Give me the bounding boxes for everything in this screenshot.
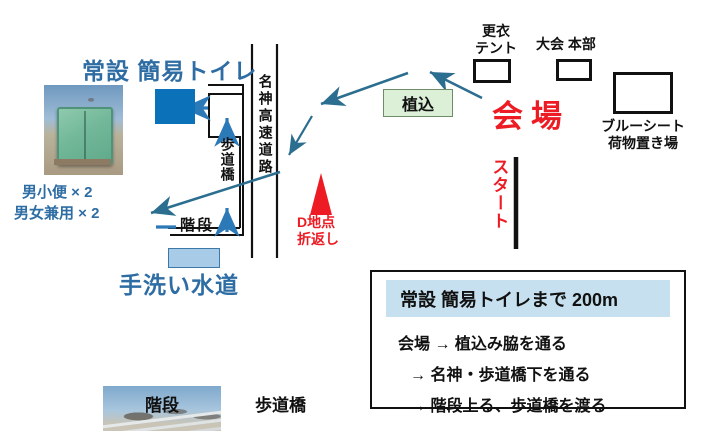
water-section-title: 手洗い水道	[119, 266, 239, 300]
blue-sheet-baggage-box	[613, 72, 673, 114]
stairs-route-label: 階段	[180, 218, 214, 235]
toilet-count-male-urinal: 男小便 × 2	[22, 181, 92, 202]
turnaround-label-line1: D地点	[297, 215, 335, 231]
portable-toilet-photo	[44, 85, 123, 175]
arrow-under-highway	[151, 172, 280, 213]
directions-step-3: → 階段上る、歩道橋を渡る	[410, 392, 684, 416]
highway-label: 名神高速道路	[257, 74, 273, 176]
water-station-block	[168, 248, 220, 268]
event-headquarters-label: 大会 本部	[536, 37, 596, 53]
footbridge-photo-caption: 歩道橋	[229, 396, 332, 415]
start-label: スタート	[489, 158, 508, 230]
event-headquarters-box	[556, 59, 592, 81]
turnaround-triangle	[310, 173, 332, 215]
toilet-location-block	[155, 89, 195, 124]
toilet-count-unisex: 男女兼用 × 2	[14, 202, 99, 223]
blue-sheet-baggage-label-line1: ブルーシート	[598, 119, 688, 135]
directions-step-2: → 名神・歩道橋下を通る	[410, 361, 684, 385]
venue-label: 会場	[492, 99, 570, 134]
planting-box: 植込	[383, 89, 453, 117]
directions-panel: 常設 簡易トイレまで 200m 会場 → 植込み脇を通る → 名神・歩道橋下を通…	[370, 270, 686, 409]
arrow-left-to-turnaround	[289, 116, 312, 155]
directions-panel-heading: 常設 簡易トイレまで 200m	[386, 280, 670, 317]
venue-access-map: 常設 簡易トイレ 男小便 × 2 男女兼用 × 2 歩道橋 階段 手洗い水道 名…	[0, 0, 701, 431]
toilet-section-title: 常設 簡易トイレ	[82, 52, 257, 86]
footbridge-route-label: 歩道橋	[219, 137, 235, 182]
directions-step-1: 会場 → 植込み脇を通る	[398, 330, 684, 354]
changing-tent-label-line1: 更衣	[473, 24, 519, 40]
stairs-photo-caption: 階段	[103, 396, 221, 415]
blue-sheet-baggage-label-line2: 荷物置き場	[598, 136, 688, 152]
changing-tent-box	[473, 59, 511, 83]
turnaround-label-line2: 折返し	[297, 232, 339, 248]
changing-tent-label-line2: テント	[467, 41, 525, 57]
